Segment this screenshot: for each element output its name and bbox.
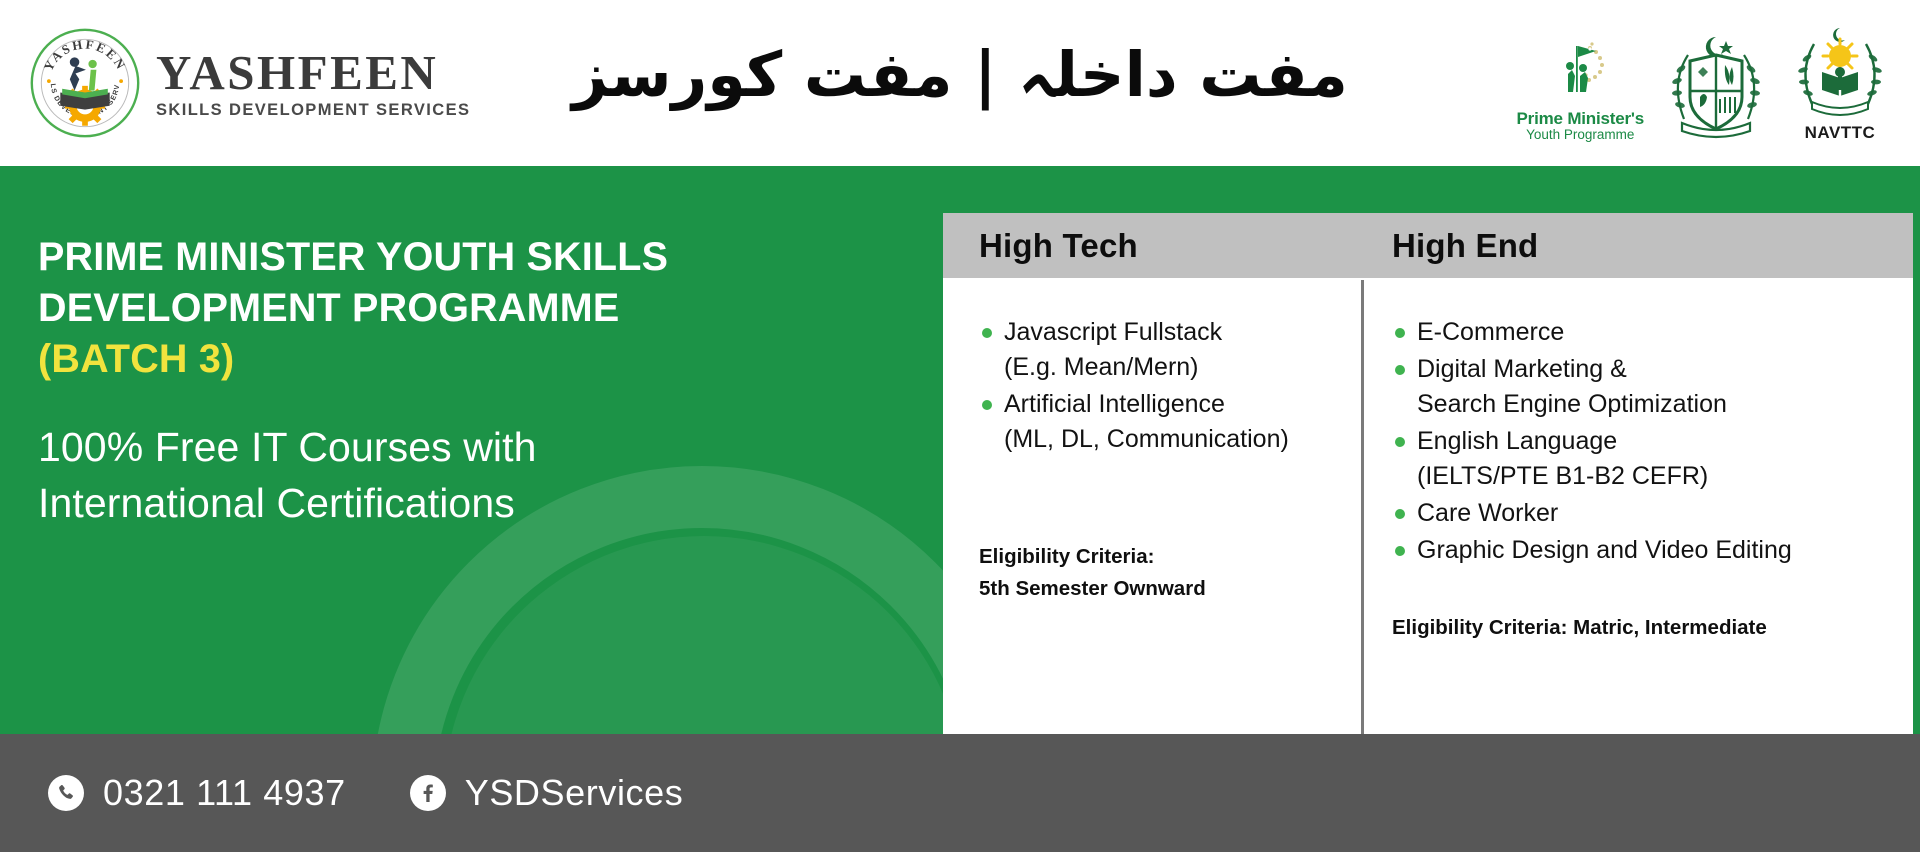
course-name: Graphic Design and Video Editing bbox=[1417, 536, 1792, 564]
facebook-icon bbox=[410, 775, 446, 811]
navttc-logo: NAVTTC bbox=[1788, 22, 1892, 143]
column-high-tech: Javascript Fullstack (E.g. Mean/Mern) Ar… bbox=[943, 278, 1361, 734]
eligibility-high-tech: Eligibility Criteria: 5th Semester Ownwa… bbox=[979, 541, 1347, 604]
course-detail: (IELTS/PTE B1-B2 CEFR) bbox=[1417, 459, 1901, 494]
brand-name: YASHFEEN bbox=[156, 48, 470, 97]
phone-icon bbox=[48, 775, 84, 811]
pm-subtitle: Youth Programme bbox=[1526, 128, 1634, 143]
navttc-label: NAVTTC bbox=[1805, 123, 1876, 143]
list-item: English Language (IELTS/PTE B1-B2 CEFR) bbox=[1392, 424, 1901, 494]
column-high-end: E-Commerce Digital Marketing & Search En… bbox=[1361, 278, 1913, 734]
contact-footer: 0321 111 4937 YSDServices bbox=[0, 734, 1920, 852]
eligibility-label: Eligibility Criteria: Matric, Intermedia… bbox=[1392, 612, 1901, 644]
brand-wordmark: YASHFEEN SKILLS DEVELOPMENT SERVICES bbox=[156, 48, 470, 119]
column-divider bbox=[1361, 280, 1364, 734]
list-item: Care Worker bbox=[1392, 496, 1901, 531]
column-title-high-end: High End bbox=[1392, 227, 1538, 265]
decorative-circle bbox=[444, 536, 964, 734]
column-header-high-end: High End bbox=[1361, 213, 1913, 278]
promo-copy: PRIME MINISTER YOUTH SKILLS DEVELOPMENT … bbox=[38, 232, 798, 532]
pm-title: Prime Minister's bbox=[1517, 110, 1644, 128]
column-title-high-tech: High Tech bbox=[979, 227, 1138, 265]
course-list-high-end: E-Commerce Digital Marketing & Search En… bbox=[1392, 315, 1901, 570]
course-detail: Search Engine Optimization bbox=[1417, 387, 1901, 422]
pm-youth-crescent-icon bbox=[1534, 32, 1626, 110]
list-item: Artificial Intelligence (ML, DL, Communi… bbox=[979, 387, 1347, 457]
phone-number: 0321 111 4937 bbox=[103, 772, 346, 814]
facebook-contact[interactable]: YSDServices bbox=[410, 772, 684, 814]
yashfeen-brand-lockup: YASHFEEN SKILLS DEVELOPMENT SERVICES bbox=[28, 26, 470, 140]
course-card-header: High Tech High End bbox=[943, 213, 1913, 278]
course-name: Care Worker bbox=[1417, 499, 1558, 527]
facebook-handle: YSDServices bbox=[465, 772, 684, 814]
list-item: Javascript Fullstack (E.g. Mean/Mern) bbox=[979, 315, 1347, 385]
promo-subtitle-line2: International Certifications bbox=[38, 475, 798, 532]
eligibility-label: Eligibility Criteria: bbox=[979, 541, 1347, 573]
eligibility-high-end: Eligibility Criteria: Matric, Intermedia… bbox=[1392, 612, 1901, 644]
course-detail: (ML, DL, Communication) bbox=[1004, 422, 1347, 457]
column-header-high-tech: High Tech bbox=[943, 213, 1361, 278]
promo-title-line1: PRIME MINISTER YOUTH SKILLS bbox=[38, 232, 798, 283]
course-name: Javascript Fullstack bbox=[1004, 318, 1222, 346]
course-card: High Tech High End Javascript Fullstack … bbox=[943, 213, 1913, 734]
top-header: YASHFEEN SKILLS DEVELOPMENT SERVICES bbox=[0, 0, 1920, 166]
pakistan-state-emblem-logo bbox=[1662, 25, 1770, 143]
course-card-body: Javascript Fullstack (E.g. Mean/Mern) Ar… bbox=[943, 278, 1913, 734]
course-name: English Language bbox=[1417, 427, 1617, 455]
promo-subtitle-line1: 100% Free IT Courses with bbox=[38, 419, 798, 476]
brand-tagline: SKILLS DEVELOPMENT SERVICES bbox=[156, 102, 470, 119]
promo-title-line2: DEVELOPMENT PROGRAMME bbox=[38, 283, 798, 334]
promo-batch-badge: (BATCH 3) bbox=[38, 334, 798, 385]
list-item: E-Commerce bbox=[1392, 315, 1901, 350]
state-emblem-icon bbox=[1662, 25, 1770, 143]
course-detail: (E.g. Mean/Mern) bbox=[1004, 350, 1347, 385]
course-list-high-tech: Javascript Fullstack (E.g. Mean/Mern) Ar… bbox=[979, 315, 1347, 459]
pm-youth-programme-logo: Prime Minister's Youth Programme bbox=[1517, 32, 1644, 143]
yashfeen-seal-logo: YASHFEEN SKILLS DEVELOPMENT SERVICES bbox=[28, 26, 142, 140]
course-name: E-Commerce bbox=[1417, 318, 1564, 346]
promotional-banner: YASHFEEN SKILLS DEVELOPMENT SERVICES bbox=[0, 0, 1920, 852]
list-item: Digital Marketing & Search Engine Optimi… bbox=[1392, 352, 1901, 422]
green-body-panel: PRIME MINISTER YOUTH SKILLS DEVELOPMENT … bbox=[0, 166, 1920, 734]
course-name: Digital Marketing & bbox=[1417, 355, 1627, 383]
partner-logos: Prime Minister's Youth Programme bbox=[1517, 22, 1892, 143]
course-name: Artificial Intelligence bbox=[1004, 390, 1225, 418]
navttc-emblem-icon bbox=[1788, 22, 1892, 122]
list-item: Graphic Design and Video Editing bbox=[1392, 533, 1901, 568]
phone-contact[interactable]: 0321 111 4937 bbox=[48, 772, 346, 814]
eligibility-value: 5th Semester Ownward bbox=[979, 573, 1347, 605]
